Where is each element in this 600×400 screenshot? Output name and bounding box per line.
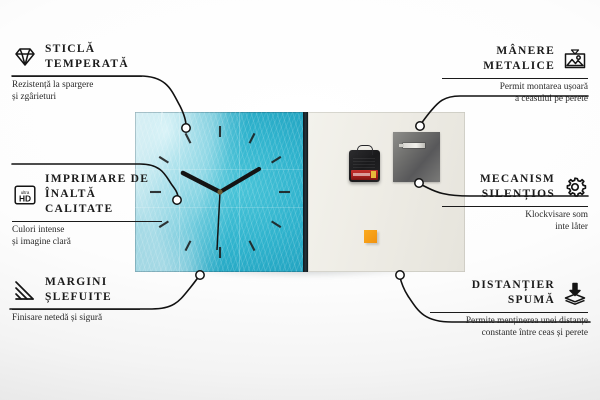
feature-header: STICLĂTEMPERATĂ [12,42,142,72]
clock-hands [183,169,259,250]
feature-subtitle: Klockvisare sominte låter [442,210,588,233]
metal-hanger [393,132,440,182]
feature-subtitle: Rezistență la spargereși zgârieturi [12,80,142,103]
picture-frame-icon [562,47,588,71]
arrow-into-pad-icon [562,281,588,305]
feature-metal-hangers: MÂNEREMETALICE Permit montarea ușoarăa c… [442,44,588,106]
feature-header: MECANISMSILENȚIOS [442,172,588,202]
feature-rule [12,76,142,77]
feature-rule [12,221,162,222]
mechanism-loop [357,145,373,155]
feature-polished-edges: MARGINIȘLEFUITE Finisare netedă și sigur… [12,275,140,325]
feature-subtitle: Finisare netedă și sigură [12,313,140,325]
feature-header: MÂNEREMETALICE [442,44,588,74]
feature-title: STICLĂTEMPERATĂ [45,42,129,72]
product-image [135,112,465,272]
battery-label [353,173,370,176]
feature-title: MECANISMSILENȚIOS [480,172,555,202]
hanger-slot [403,143,425,148]
feature-rule [442,206,588,207]
feature-rule [12,309,140,310]
battery-plus-terminal [371,171,376,178]
feature-tempered-glass: STICLĂTEMPERATĂ Rezistență la spargereși… [12,42,142,104]
clock-mechanism [349,150,380,182]
foam-spacer [364,230,377,243]
svg-text:HD: HD [19,193,31,203]
infographic-canvas: STICLĂTEMPERATĂ Rezistență la spargereși… [0,0,600,400]
feature-subtitle: Permite menținerea unei distanțeconstant… [430,316,588,339]
ultra-hd-icon: ultra HD [12,183,38,207]
feature-silent-mechanism: MECANISMSILENȚIOS Klockvisare sominte lå… [442,172,588,234]
feature-title: MÂNEREMETALICE [483,44,555,74]
feature-foam-spacer: DISTANȚIERSPUMĂ Permite menținerea unei … [430,278,588,340]
feature-header: MARGINIȘLEFUITE [12,275,140,305]
feature-rule [442,78,588,79]
diamond-icon [12,45,38,69]
mechanism-texture [353,156,375,168]
diagonal-stripes-icon [12,278,38,302]
battery [351,170,378,180]
feature-subtitle: Permit montarea ușoarăa ceasului pe pere… [442,82,588,105]
feature-title: MARGINIȘLEFUITE [45,275,112,305]
gear-icon [562,175,588,199]
feature-subtitle: Culori intenseși imagine clară [12,225,162,248]
feature-high-quality-print: ultra HD IMPRIMARE DEÎNALTĂ CALITATE Cul… [12,172,162,249]
feature-header: DISTANȚIERSPUMĂ [430,278,588,308]
feature-title: IMPRIMARE DEÎNALTĂ CALITATE [45,172,162,217]
hanger-slot-secondary [399,144,404,147]
feature-title: DISTANȚIERSPUMĂ [472,278,555,308]
feature-rule [430,312,588,313]
feature-header: ultra HD IMPRIMARE DEÎNALTĂ CALITATE [12,172,162,217]
